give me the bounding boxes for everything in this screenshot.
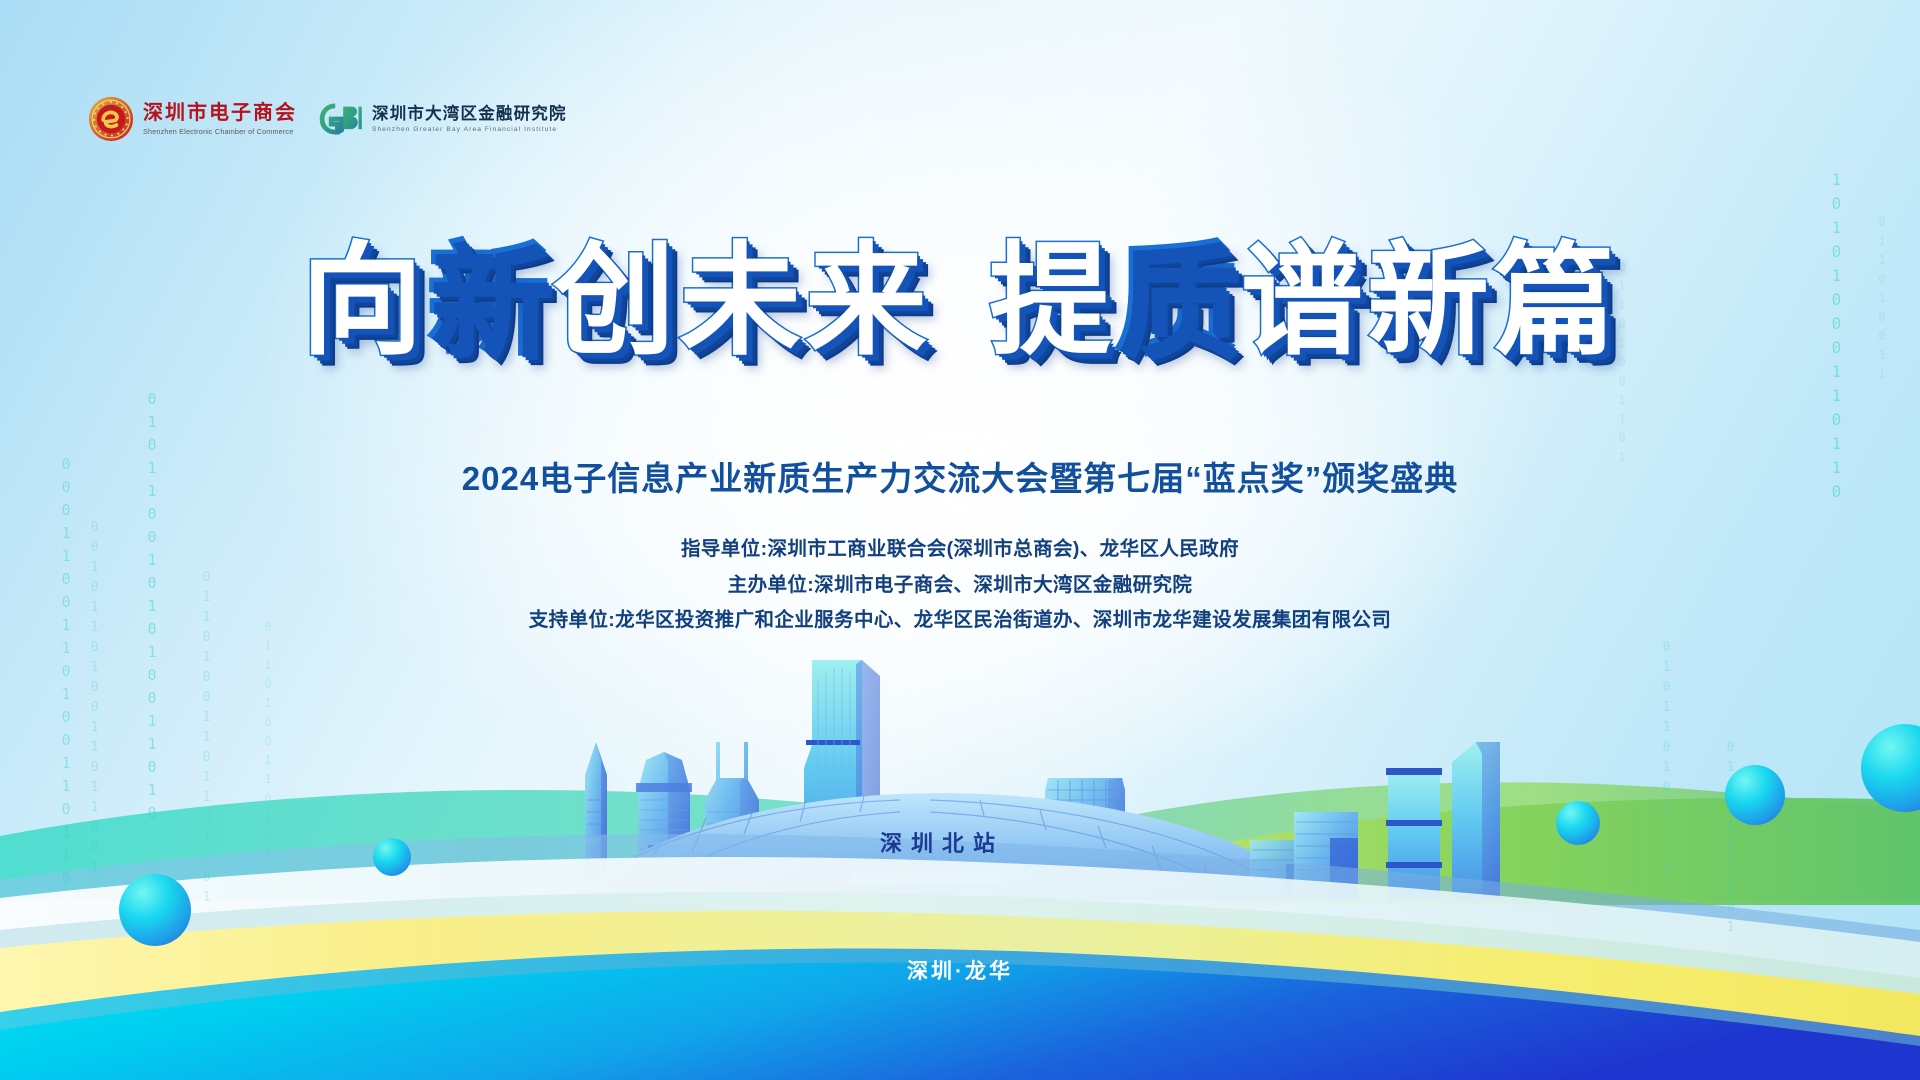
headline-seg-2: 创未来 (553, 240, 931, 362)
headline-seg-4: 质 (1115, 240, 1241, 362)
gbi-name-en: Shenzhen Greater Bay Area Financial Inst… (372, 126, 567, 133)
organizer-line-host: 主办单位:深圳市电子商会、深圳市大湾区金融研究院 (0, 576, 1920, 596)
district-label: 深圳·龙华 (0, 955, 1920, 985)
station-label: 深圳北站 (880, 826, 1004, 858)
secc-name-cn: 深圳市电子商会 (143, 102, 297, 124)
logo-secc: 深圳市电子商会 Shenzhen Electronic Chamber of C… (88, 96, 297, 142)
logo-gbi: 深圳市大湾区金融研究院 Shenzhen Greater Bay Area Fi… (319, 103, 567, 135)
headline-seg-0: 向 (301, 240, 427, 362)
event-subtitle: 2024电子信息产业新质生产力交流大会暨第七届“蓝点奖”颁奖盛典 (0, 452, 1920, 500)
poster-banner: 0001100110100110110001011010011011001010… (0, 0, 1920, 1080)
headline-seg-3: 提 (989, 240, 1115, 362)
headline-seg-5: 谱新篇 (1241, 240, 1619, 362)
gbi-mark-icon (319, 103, 363, 135)
secc-name-en: Shenzhen Electronic Chamber of Commerce (143, 127, 297, 136)
organizer-line-support: 支持单位:龙华区投资推广和企业服务中心、龙华区民治街道办、深圳市龙华建设发展集团… (0, 611, 1920, 631)
headline: 向新创未来提质谱新篇 (0, 240, 1920, 362)
secc-seal-icon (88, 96, 134, 142)
gbi-name-cn: 深圳市大湾区金融研究院 (372, 105, 567, 123)
logo-row: 深圳市电子商会 Shenzhen Electronic Chamber of C… (88, 96, 567, 142)
organizer-line-guidance: 指导单位:深圳市工商业联合会(深圳市总商会)、龙华区人民政府 (0, 540, 1920, 560)
headline-seg-1: 新 (427, 240, 553, 362)
organizer-block: 指导单位:深圳市工商业联合会(深圳市总商会)、龙华区人民政府 主办单位:深圳市电… (0, 540, 1920, 647)
